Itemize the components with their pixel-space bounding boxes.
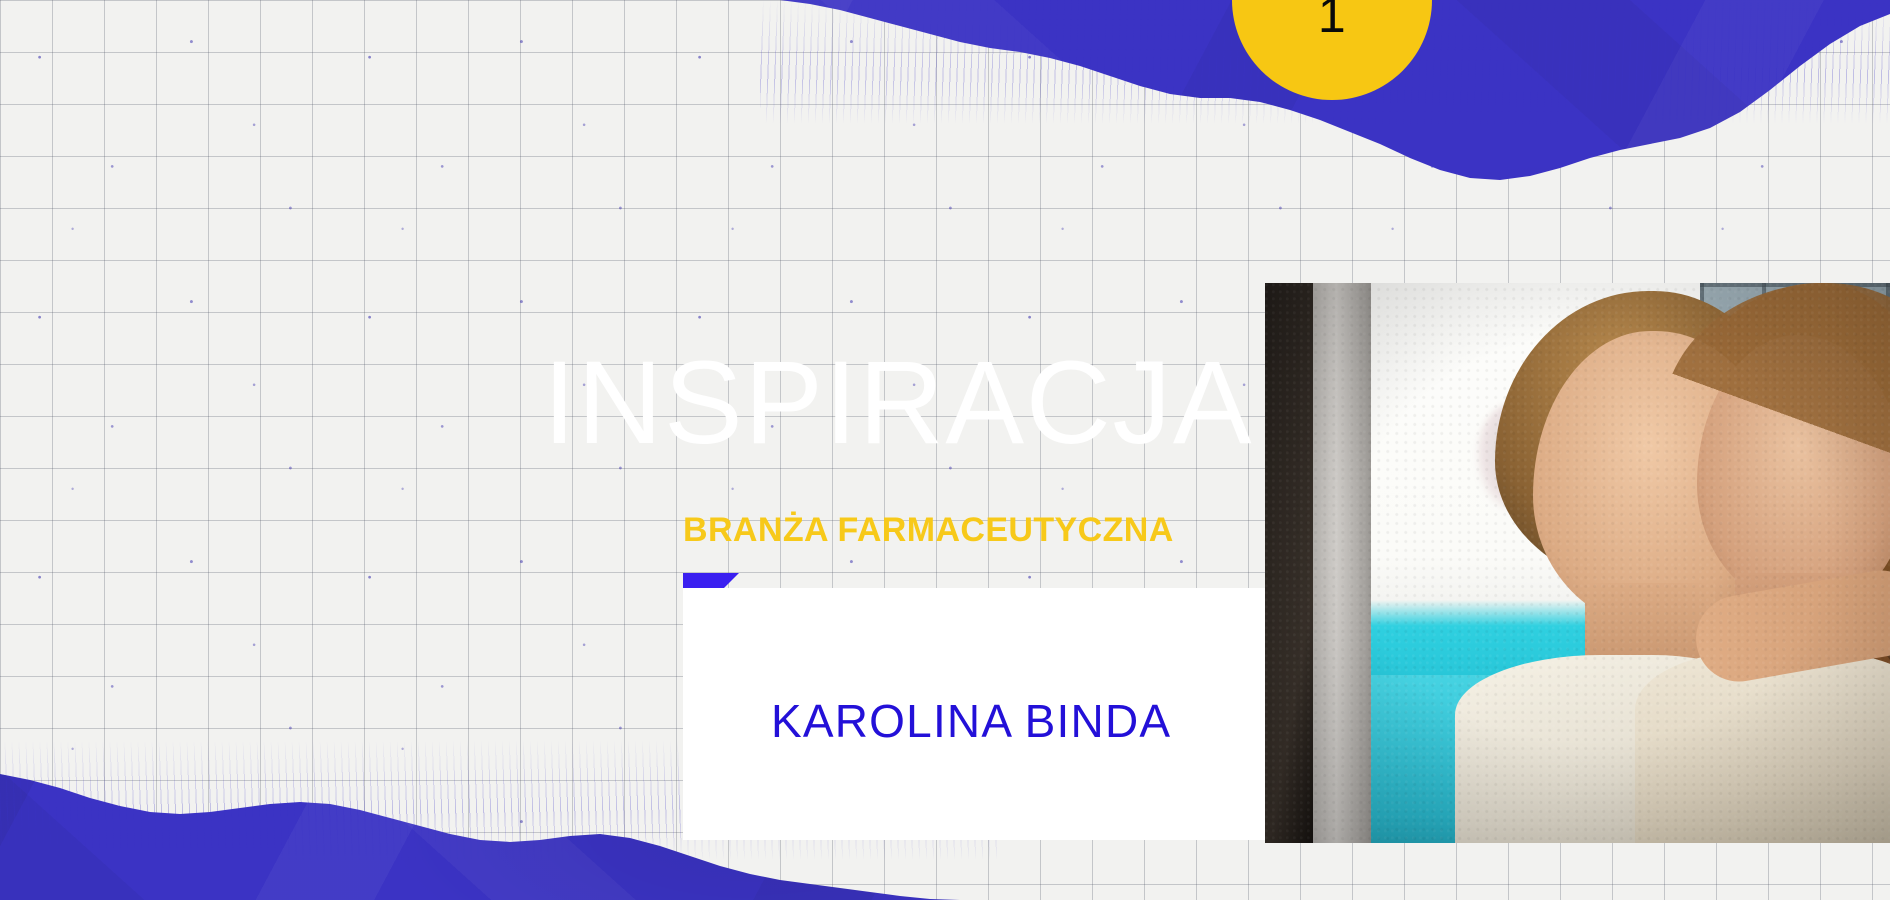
page-title: INSPIRACJA: [543, 344, 1253, 462]
speaker-name-card: KAROLINA BINDA: [683, 588, 1265, 840]
speaker-photo: [1265, 283, 1890, 843]
photo-vignette-overlay: [1265, 283, 1890, 843]
slide-number-label: 1: [1318, 0, 1346, 100]
subtitle-industry: BRANŻA FARMACEUTYCZNA: [683, 513, 1174, 547]
speaker-name-label: KAROLINA BINDA: [771, 698, 1171, 744]
